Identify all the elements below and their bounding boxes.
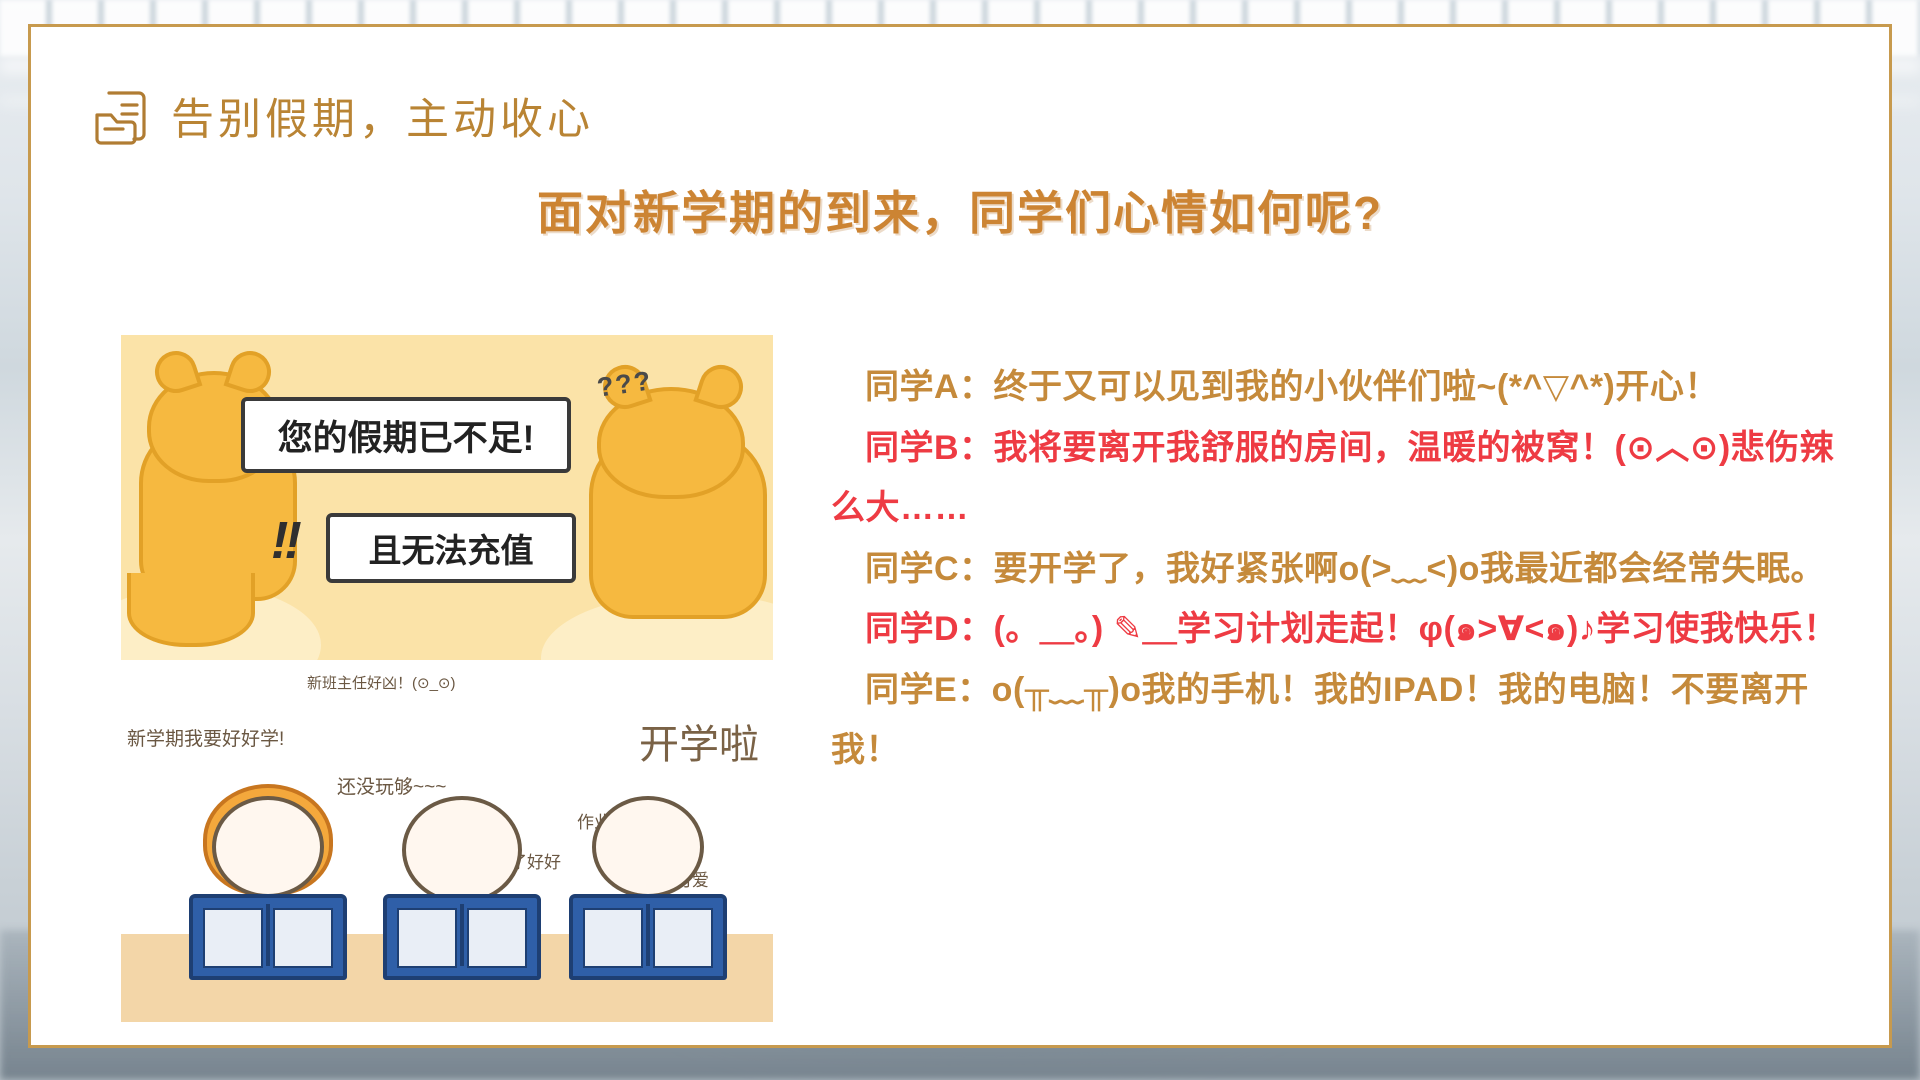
response-line-d: 同学D：(。＿。) ✎＿学习计划走起！φ(๑>∀<๑)♪学习使我快乐！ bbox=[831, 599, 1861, 660]
book-page bbox=[273, 908, 333, 968]
section-title-label: 告别假期，主动收心 bbox=[171, 85, 594, 147]
comic-title-school-starts: 开学啦 bbox=[639, 712, 759, 770]
responses-list: 同学A：终于又可以见到我的小伙伴们啦~(*^▽^*)开心！ 同学B：我将要离开我… bbox=[831, 357, 1861, 781]
cub-tiger-face bbox=[212, 796, 324, 898]
response-line-a: 同学A：终于又可以见到我的小伙伴们啦~(*^▽^*)开心！ bbox=[831, 357, 1861, 418]
book-page bbox=[397, 908, 457, 968]
book-page bbox=[653, 908, 713, 968]
section-title: 告别假期，主动收心 bbox=[93, 85, 594, 147]
cub-bunny-face bbox=[592, 796, 704, 898]
caption-study-hard: 新学期我要好好学! bbox=[127, 724, 284, 751]
illustration-column: ??? 您的假期已不足! !! 且无法充值 新班主任好凶！(⊙_⊙) 新学期我要… bbox=[121, 335, 773, 1022]
page-title: 面对新学期的到来，同学们心情如何呢? bbox=[31, 177, 1889, 243]
comic-cubs-reading: 新班主任好凶！(⊙_⊙) 新学期我要好好学! 还没玩够~~~ 作业没做完 写了好… bbox=[121, 660, 773, 1022]
book bbox=[569, 894, 727, 980]
response-line-c: 同学C：要开学了，我好紧张啊o(>﹏<)o我最近都会经常失眠。 bbox=[831, 539, 1861, 600]
book bbox=[189, 894, 347, 980]
book bbox=[383, 894, 541, 980]
speech-bubble-vacation-low: 您的假期已不足! bbox=[241, 397, 571, 473]
speech-bubble-no-recharge: 且无法充值 bbox=[326, 513, 576, 583]
response-line-e: 同学E：o(╥﹏╥)o我的手机！我的IPAD！我的电脑！不要离开我！ bbox=[831, 660, 1861, 781]
exclamation-marks-text: !! bbox=[271, 511, 298, 571]
cat-left-legs bbox=[127, 573, 255, 647]
book-page bbox=[583, 908, 643, 968]
response-line-b: 同学B：我将要离开我舒服的房间，温暖的被窝！(⊙︿⊙)悲伤辣么大…… bbox=[831, 418, 1861, 539]
cub-tiger bbox=[173, 782, 363, 982]
book-page bbox=[203, 908, 263, 968]
cub-cat bbox=[367, 782, 557, 982]
slide-root: 告别假期，主动收心 面对新学期的到来，同学们心情如何呢? ?? bbox=[0, 0, 1920, 1080]
cub-cat-face bbox=[402, 796, 522, 904]
content-card: 告别假期，主动收心 面对新学期的到来，同学们心情如何呢? ?? bbox=[28, 24, 1892, 1048]
document-folder-icon bbox=[93, 87, 147, 145]
cub-bunny bbox=[553, 782, 743, 982]
book-page bbox=[467, 908, 527, 968]
comic-cats-vacation: ??? 您的假期已不足! !! 且无法充值 bbox=[121, 335, 773, 660]
caption-teacher-strict: 新班主任好凶！(⊙_⊙) bbox=[307, 672, 455, 693]
